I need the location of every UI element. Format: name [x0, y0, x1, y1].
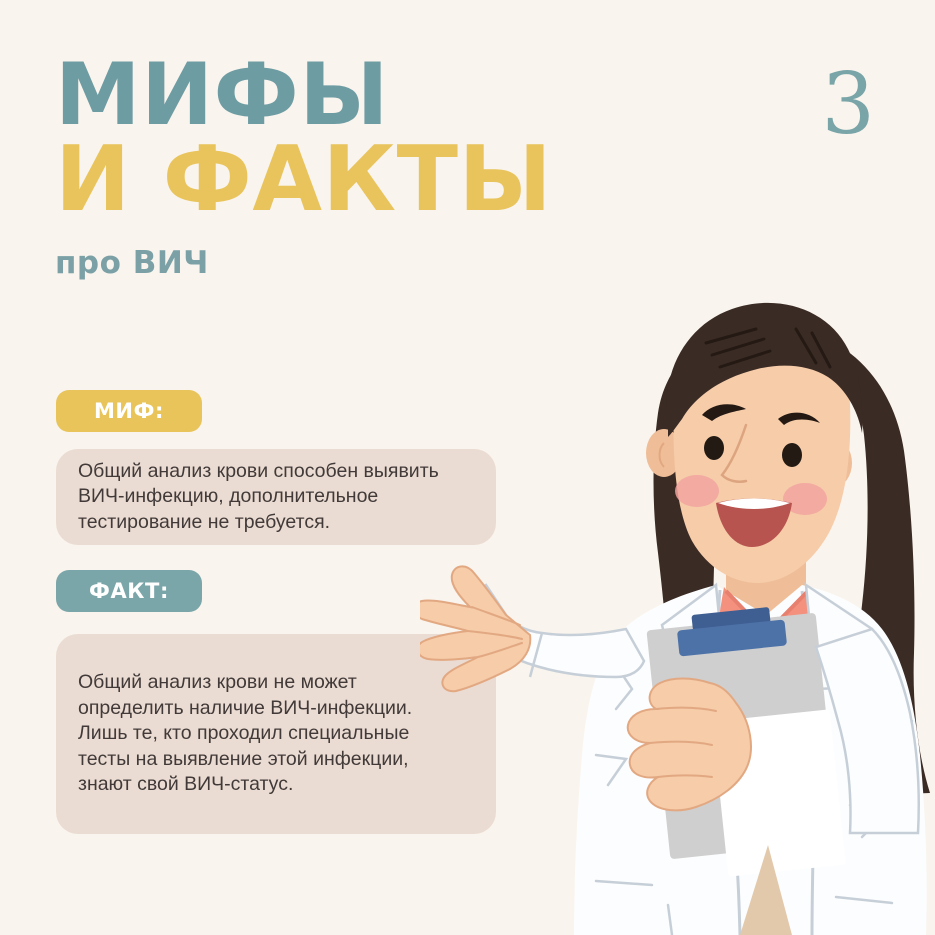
- head: [646, 303, 862, 583]
- face: [674, 311, 851, 583]
- fact-badge: ФАКТ:: [56, 570, 202, 612]
- title-block: МИФЫ И ФАКТЫ про ВИЧ: [55, 58, 615, 281]
- title-line-facts: И ФАКТЫ: [55, 140, 615, 219]
- hair-strands: [706, 329, 830, 367]
- fact-text: Общий анализ крови не может определить н…: [78, 670, 412, 798]
- clipboard: [646, 607, 845, 877]
- coat-sleeve-right: [816, 629, 919, 833]
- myth-card: Общий анализ крови способен выявить ВИЧ-…: [56, 449, 496, 545]
- coat-placket-left: [718, 590, 740, 935]
- shirt-collar-x: [720, 591, 812, 681]
- cheek-left: [675, 475, 719, 507]
- fact-card: Общий анализ крови не может определить н…: [56, 634, 496, 834]
- poster-canvas: МИФЫ И ФАКТЫ про ВИЧ 3 МИФ: Общий анализ…: [0, 0, 935, 935]
- mouth: [716, 499, 792, 548]
- shirt-vneck: [715, 587, 820, 689]
- ear-right: [816, 439, 852, 487]
- coat-lapel-right: [806, 585, 872, 689]
- ear-left: [646, 429, 682, 477]
- doctor-illustration: [420, 285, 935, 935]
- myth-badge: МИФ:: [56, 390, 202, 432]
- coat-fold-lines: [596, 653, 912, 935]
- title-line-myths: МИФЫ: [55, 58, 615, 134]
- eyebrow-right: [778, 413, 820, 425]
- holding-hand: [628, 679, 751, 811]
- eye-left: [704, 436, 724, 460]
- sleeve-cuff-left: [530, 633, 542, 677]
- teeth: [718, 499, 790, 510]
- eyebrow-left: [702, 404, 746, 421]
- hair-back-right: [772, 331, 930, 795]
- page-number: 3: [822, 62, 875, 146]
- lab-coat: [574, 585, 927, 935]
- eye-right: [782, 443, 802, 467]
- coat-lapel-left: [662, 585, 726, 689]
- cheek-right: [783, 483, 827, 515]
- nose: [722, 425, 746, 482]
- myth-text: Общий анализ крови способен выявить ВИЧ-…: [78, 459, 439, 536]
- hair-back: [654, 340, 721, 777]
- hair-front: [667, 303, 863, 437]
- skirt: [740, 845, 792, 935]
- subtitle-about-hiv: про ВИЧ: [55, 245, 615, 281]
- coat-placket-right: [802, 591, 814, 935]
- neck: [726, 535, 806, 637]
